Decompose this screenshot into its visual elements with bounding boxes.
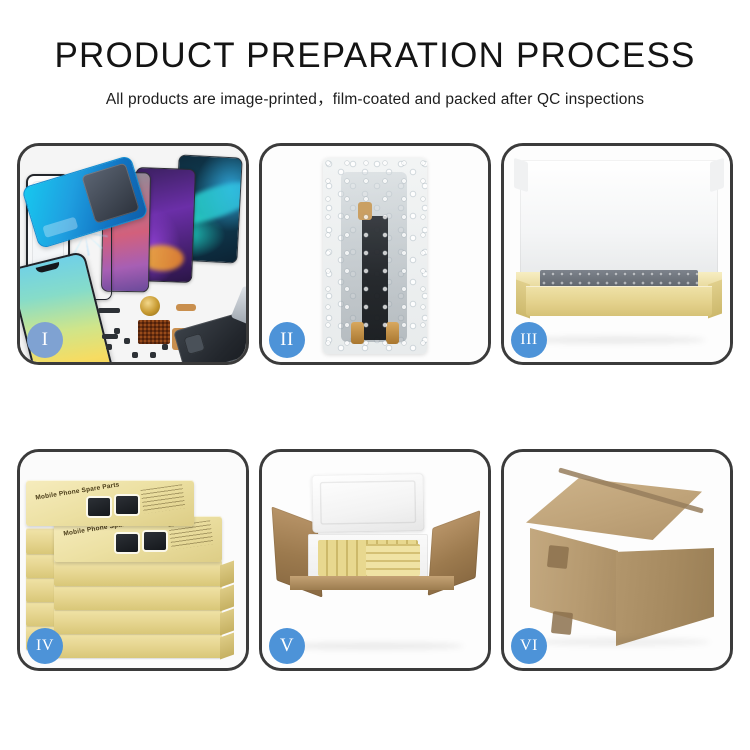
process-step-grid: I II xyxy=(17,143,733,671)
part-bar2-icon xyxy=(102,334,118,339)
part-chip-icon xyxy=(138,320,170,344)
carton-front-face xyxy=(530,528,618,632)
step-badge-1: I xyxy=(27,322,63,358)
retail-box-lid-top: Mobile Phone Spare Parts xyxy=(26,480,194,526)
carton-shadow xyxy=(534,638,710,646)
panel-sealed-shipping-carton: VI xyxy=(501,449,733,671)
part-bar-icon xyxy=(98,308,120,313)
part-small-b-icon xyxy=(124,338,130,344)
step-badge-6: VI xyxy=(511,628,547,664)
part-small-f-icon xyxy=(162,344,168,350)
box-stack: Mobile Phone Spare Parts Mobile Phone Sp… xyxy=(26,472,242,658)
stacked-box-icon xyxy=(54,560,222,586)
stacked-box-icon xyxy=(54,608,222,634)
panel-stacked-retail-boxes: Mobile Phone Spare Parts Mobile Phone Sp… xyxy=(17,449,249,671)
carton-front-face xyxy=(298,584,446,644)
flex-tab-left-icon xyxy=(351,322,364,344)
wrapped-screen-icon xyxy=(362,216,388,340)
box-spec-lines xyxy=(141,484,186,514)
spare-parts-cluster xyxy=(98,294,249,365)
step-badge-5: V xyxy=(269,628,305,664)
page-title: PRODUCT PREPARATION PROCESS xyxy=(0,38,750,73)
part-flex-cable-icon xyxy=(176,304,196,311)
panel-open-inner-box: III xyxy=(501,143,733,365)
yellow-box-body-icon xyxy=(516,272,722,316)
carton-shadow xyxy=(286,642,464,650)
panel-carton-with-foam: V xyxy=(259,449,491,671)
part-small-d-icon xyxy=(132,352,138,358)
carton-tape-a-icon xyxy=(547,545,569,569)
box-window-a-icon xyxy=(116,534,138,552)
stacked-box-icon xyxy=(54,584,222,610)
step-badge-4: IV xyxy=(27,628,63,664)
box-window-b-icon xyxy=(144,532,166,550)
box-window-a-icon xyxy=(88,498,110,516)
box-window-b-icon xyxy=(116,496,138,514)
carton-side-face xyxy=(616,548,714,646)
step-badge-2: II xyxy=(269,322,305,358)
panel-bubble-wrapped-screen: II xyxy=(259,143,491,365)
header: PRODUCT PREPARATION PROCESS All products… xyxy=(0,38,750,109)
styrofoam-lid-icon xyxy=(312,473,425,533)
stacked-box-icon xyxy=(54,632,222,658)
panel-phone-screens-and-parts: I xyxy=(17,143,249,365)
flex-tab-right-icon xyxy=(386,322,399,344)
part-coil-icon xyxy=(140,296,160,316)
part-small-c-icon xyxy=(106,344,112,350)
carton-tape-b-icon xyxy=(551,611,573,635)
page-subtitle: All products are image-printed，film-coat… xyxy=(0,87,750,109)
part-small-e-icon xyxy=(150,352,156,358)
box-front-face xyxy=(526,286,712,316)
infographic-page: PRODUCT PREPARATION PROCESS All products… xyxy=(0,0,750,750)
yellow-boxes-inside-icon xyxy=(366,544,420,576)
step-badge-3: III xyxy=(511,322,547,358)
white-box-lid-icon xyxy=(520,160,718,280)
bubble-wrap-bag xyxy=(323,158,427,354)
box-shadow xyxy=(528,336,706,344)
